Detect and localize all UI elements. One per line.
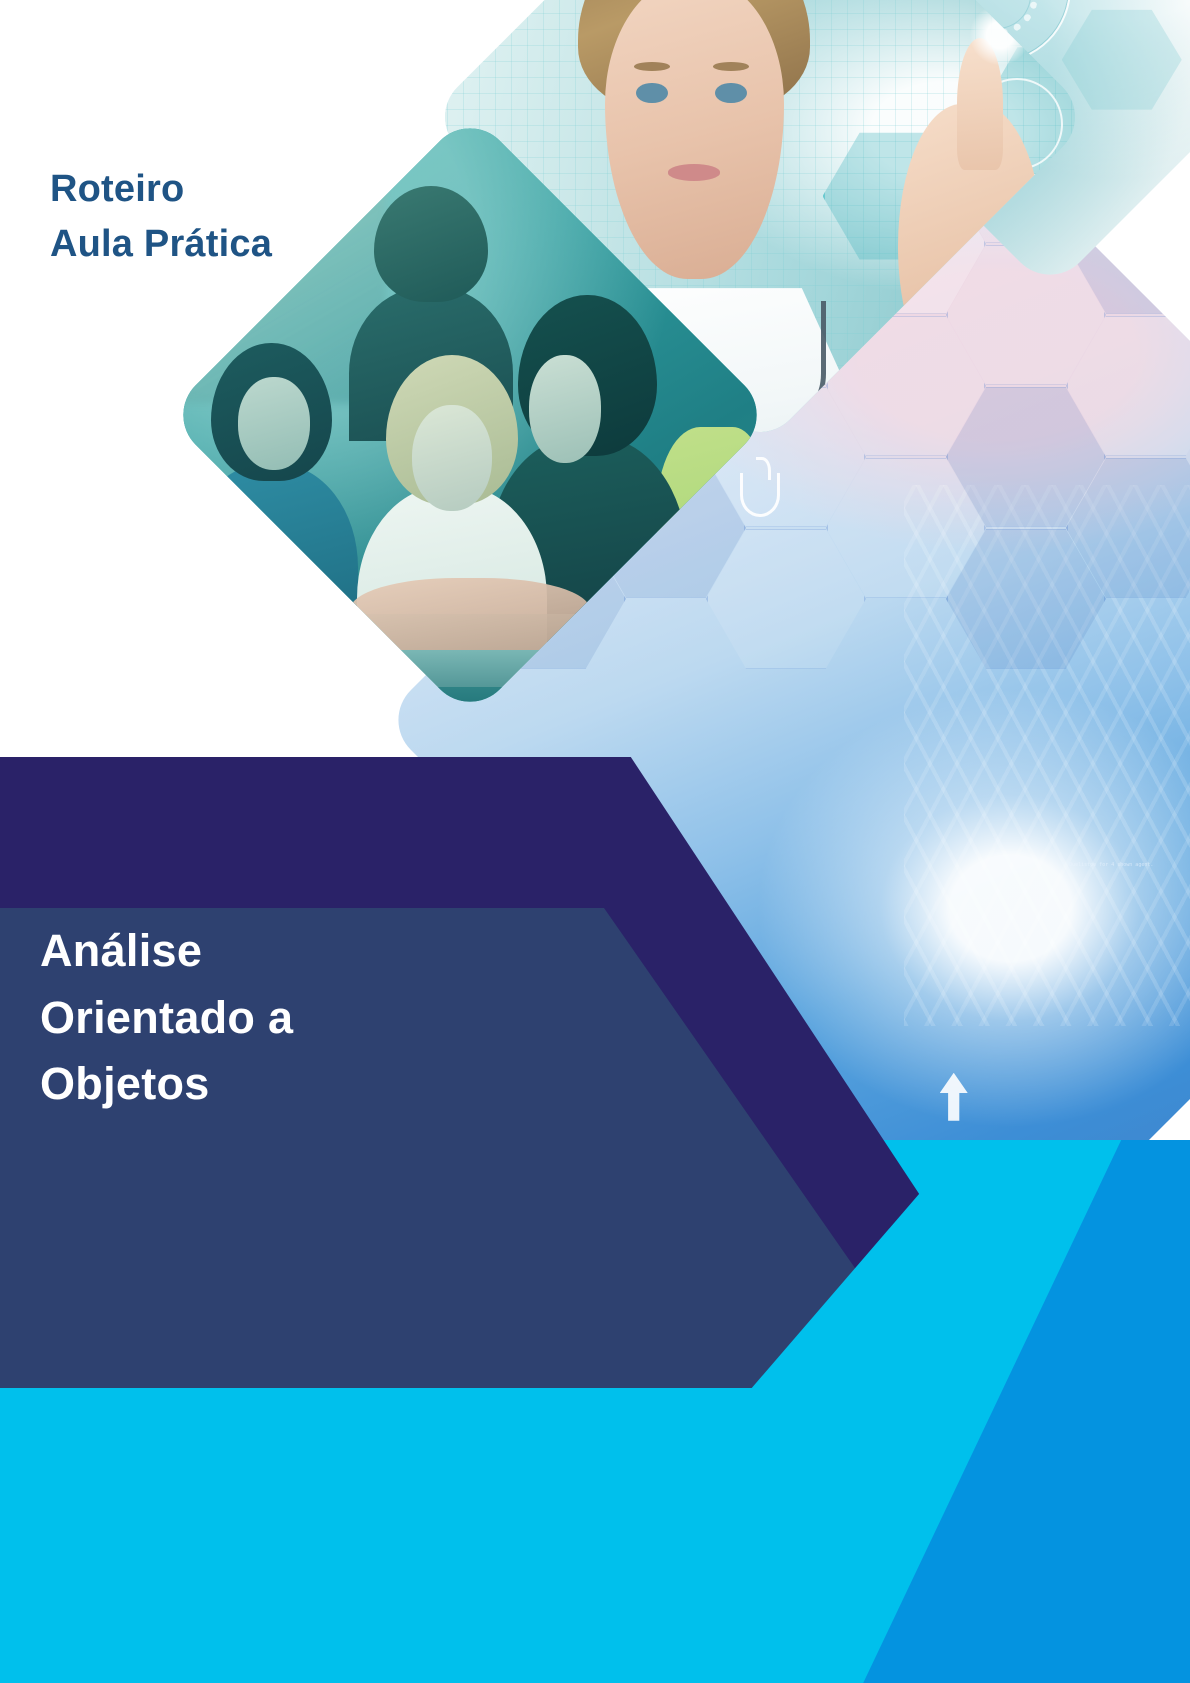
eye	[715, 83, 747, 103]
hud-hexagon	[1062, 7, 1182, 113]
lips	[668, 164, 721, 180]
face	[529, 355, 601, 463]
title-line-2: Orientado a	[40, 985, 460, 1052]
title-line-1: Análise	[40, 918, 460, 985]
face	[412, 405, 491, 511]
cover-page: SYSTEM is 11 and SYSIN8 is 12, which is …	[0, 0, 1190, 1683]
hud-code-text-bottom: Duelistpe for 4 shown agent.	[1069, 861, 1153, 869]
face-skin	[605, 0, 784, 279]
pharmacy-bowl-icon	[740, 473, 780, 517]
head	[374, 186, 488, 302]
eye	[636, 83, 668, 103]
title-line-3: Objetos	[40, 1051, 460, 1118]
page-subtitle: Roteiro Aula Prática	[50, 162, 272, 272]
face	[238, 377, 310, 469]
page-title: Análise Orientado a Objetos	[40, 918, 460, 1118]
subtitle-line-1: Roteiro	[50, 162, 272, 217]
subtitle-line-2: Aula Prática	[50, 217, 272, 272]
